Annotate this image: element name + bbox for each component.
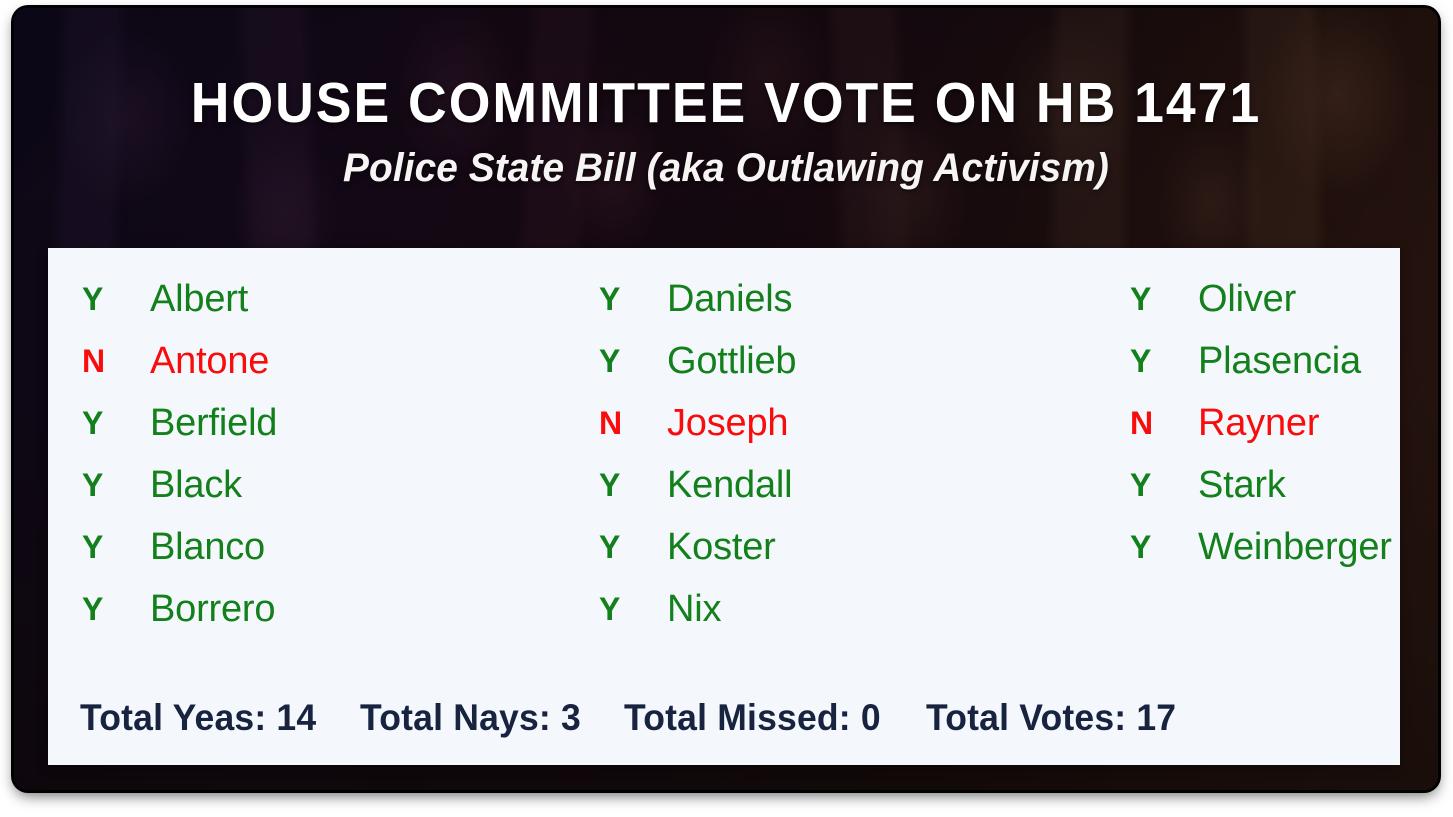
table-row: Y Blanco <box>82 516 582 578</box>
vote-mark: Y <box>599 591 667 628</box>
table-row: Y Daniels <box>599 268 1107 330</box>
legislator-name: Black <box>150 464 242 507</box>
table-row: Y Plasencia <box>1130 330 1438 392</box>
legislator-name: Joseph <box>667 402 788 445</box>
legislator-name: Koster <box>667 526 776 569</box>
table-row: N Antone <box>82 330 582 392</box>
total-votes: Total Votes: 17 <box>926 697 1176 739</box>
legislator-name: Weinberger <box>1198 526 1392 569</box>
vote-mark: Y <box>82 591 150 628</box>
vote-mark: Y <box>599 343 667 380</box>
table-row: Y Albert <box>82 268 582 330</box>
legislator-name: Nix <box>667 588 721 631</box>
table-row: Y Gottlieb <box>599 330 1107 392</box>
vote-mark: N <box>1130 405 1198 442</box>
table-row: Y Kendall <box>599 454 1107 516</box>
table-row: Y Berfield <box>82 392 582 454</box>
vote-mark: N <box>82 343 150 380</box>
table-row: Y Nix <box>599 578 1107 640</box>
vote-roster-panel: Y Albert N Antone Y Berfield Y Black Y <box>48 248 1400 765</box>
vote-mark: Y <box>1130 343 1198 380</box>
legislator-name: Gottlieb <box>667 340 796 383</box>
vote-totals-bar: Total Yeas: 14 Total Nays: 3 Total Misse… <box>48 697 1400 739</box>
vote-mark: Y <box>1130 529 1198 566</box>
card-header: HOUSE COMMITTEE VOTE ON HB 1471 Police S… <box>14 8 1438 240</box>
page-subtitle: Police State Bill (aka Outlawing Activis… <box>35 134 1416 191</box>
legislator-name: Plasencia <box>1198 340 1361 383</box>
table-row: Y Borrero <box>82 578 582 640</box>
vote-mark: Y <box>599 281 667 318</box>
vote-column-2: Y Daniels Y Gottlieb N Joseph Y Kendall … <box>582 268 1107 640</box>
vote-column-1: Y Albert N Antone Y Berfield Y Black Y <box>48 268 582 640</box>
table-row: Y Stark <box>1130 454 1438 516</box>
total-nays: Total Nays: 3 <box>360 697 581 739</box>
vote-column-3: Y Oliver Y Plasencia N Rayner Y Stark Y <box>1107 268 1438 640</box>
table-row: N Rayner <box>1130 392 1438 454</box>
vote-mark: Y <box>1130 467 1198 504</box>
table-row: Y Black <box>82 454 582 516</box>
table-row: Y Koster <box>599 516 1107 578</box>
legislator-name: Borrero <box>150 588 275 631</box>
legislator-name: Oliver <box>1198 278 1296 321</box>
page-title: HOUSE COMMITTEE VOTE ON HB 1471 <box>57 8 1396 134</box>
legislator-name: Albert <box>150 278 248 321</box>
legislator-name: Rayner <box>1198 402 1319 445</box>
table-row: Y Weinberger <box>1130 516 1438 578</box>
legislator-name: Berfield <box>150 402 277 445</box>
vote-mark: Y <box>82 281 150 318</box>
legislator-name: Antone <box>150 340 269 383</box>
total-yeas: Total Yeas: 14 <box>80 697 316 739</box>
legislator-name: Daniels <box>667 278 792 321</box>
vote-mark: Y <box>599 467 667 504</box>
vote-mark: N <box>599 405 667 442</box>
legislator-name: Blanco <box>150 526 265 569</box>
total-missed: Total Missed: 0 <box>624 697 881 739</box>
vote-columns: Y Albert N Antone Y Berfield Y Black Y <box>48 268 1400 640</box>
legislator-name: Kendall <box>667 464 792 507</box>
vote-mark: Y <box>82 405 150 442</box>
vote-mark: Y <box>599 529 667 566</box>
vote-mark: Y <box>82 467 150 504</box>
legislator-name: Stark <box>1198 464 1286 507</box>
table-row: N Joseph <box>599 392 1107 454</box>
table-row: Y Oliver <box>1130 268 1438 330</box>
vote-tally-card: HOUSE COMMITTEE VOTE ON HB 1471 Police S… <box>14 8 1438 790</box>
vote-mark: Y <box>82 529 150 566</box>
vote-mark: Y <box>1130 281 1198 318</box>
